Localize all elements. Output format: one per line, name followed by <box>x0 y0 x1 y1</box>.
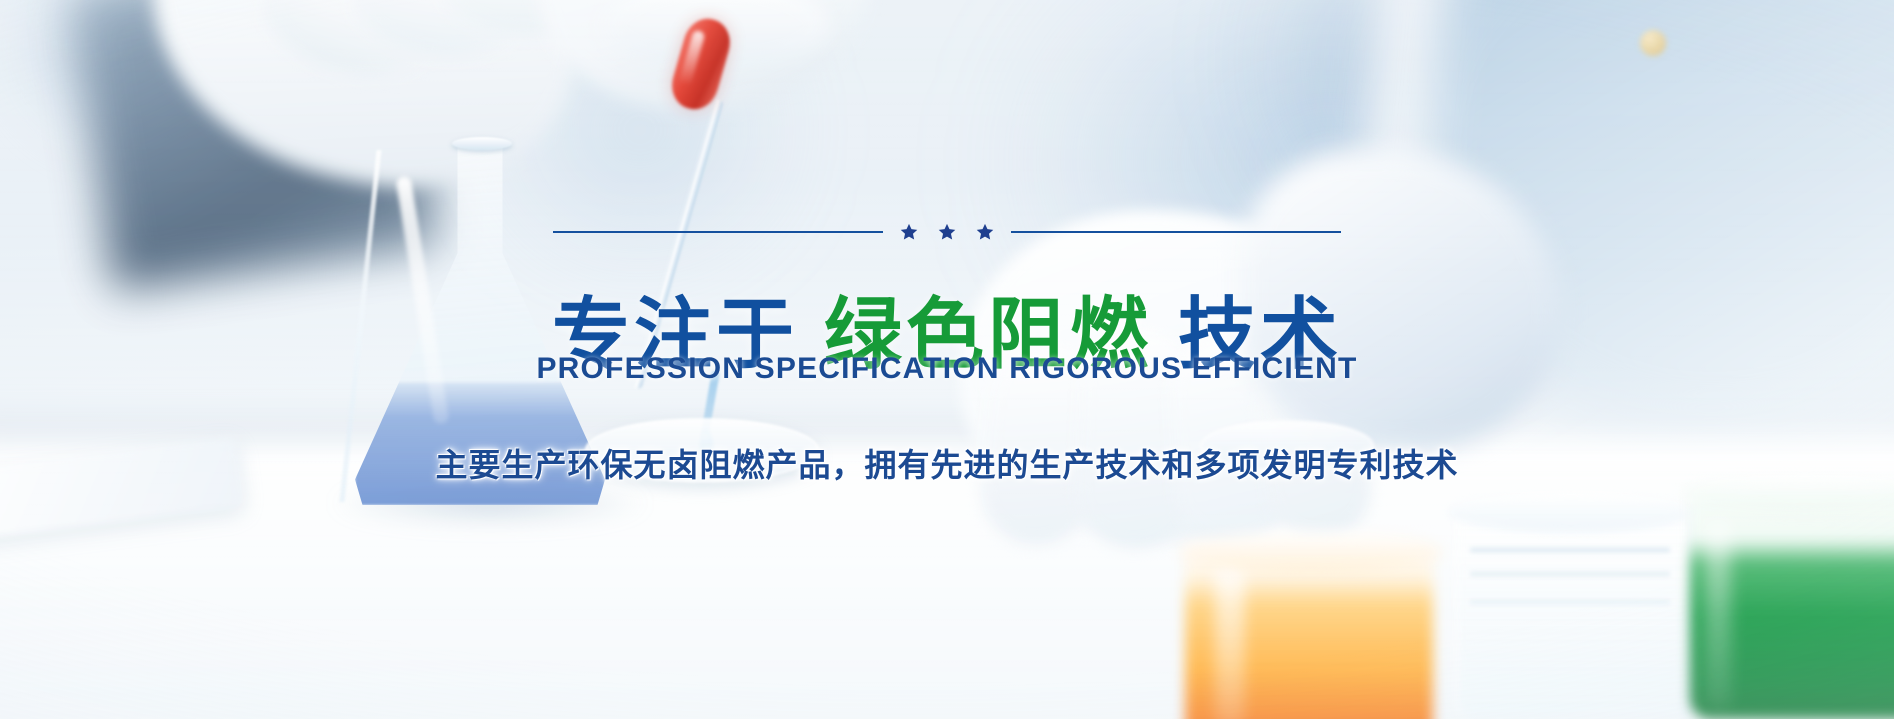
divider-rule-left <box>553 231 883 233</box>
tagline-chinese: 主要生产环保无卤阻燃产品，拥有先进的生产技术和多项发明专利技术 <box>435 440 1458 486</box>
star-icon <box>937 222 957 242</box>
banner-content: 专注于绿色阻燃技术 PROFESSION SPECIFICATION RIGOR… <box>0 0 1894 719</box>
decorative-divider <box>547 222 1347 242</box>
star-icon <box>975 222 995 242</box>
divider-rule-right <box>1011 231 1341 233</box>
divider-stars <box>899 222 995 242</box>
star-icon <box>899 222 919 242</box>
subtitle-english: PROFESSION SPECIFICATION RIGOROUS EFFICI… <box>536 352 1357 386</box>
hero-banner: 专注于绿色阻燃技术 PROFESSION SPECIFICATION RIGOR… <box>0 0 1894 719</box>
